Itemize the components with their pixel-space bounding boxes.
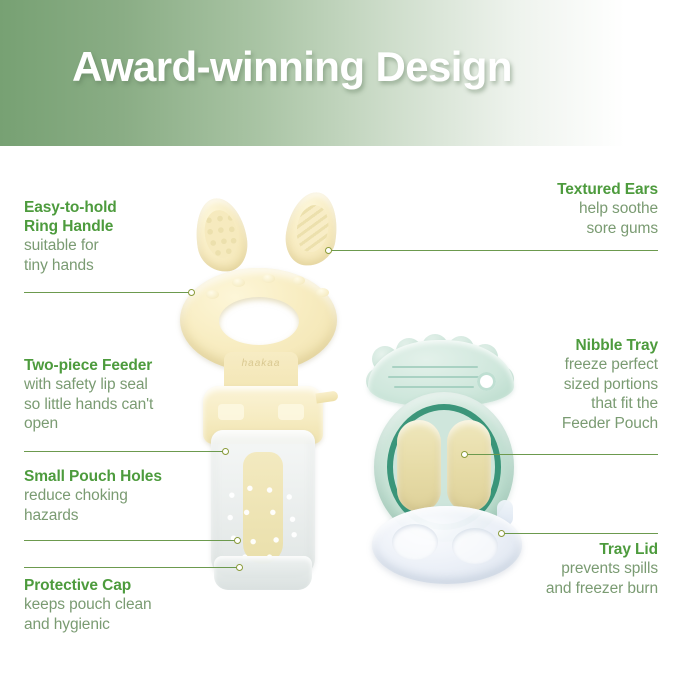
- callout-body-two-piece-feeder-line3: open: [24, 414, 224, 434]
- protective-cap-part: [214, 556, 312, 590]
- ring-bump: [262, 274, 275, 283]
- leader-dot-two-piece-feeder: [222, 448, 229, 455]
- callout-body-nibble-tray-line3: that fit the: [438, 394, 658, 414]
- callout-body-textured-ears-line2: sore gums: [438, 219, 658, 239]
- feeder-spout: [315, 391, 338, 404]
- leader-dot-tray-lid: [498, 530, 505, 537]
- callout-title-ring-handle-line1: Easy-to-hold: [24, 198, 214, 217]
- lid-dimple: [392, 524, 438, 560]
- callout-body-two-piece-feeder-line1: with safety lip seal: [24, 375, 224, 395]
- bunny-ear-right-zigzag: [282, 189, 343, 270]
- tray-food-portion-left: [397, 420, 441, 512]
- leader-line-tray-lid: [504, 533, 658, 534]
- ring-bump: [232, 278, 245, 287]
- ring-bump: [316, 288, 329, 297]
- callout-body-ring-handle-line2: tiny hands: [24, 256, 214, 276]
- ring-handle-opening: [219, 297, 299, 345]
- callout-body-two-piece-feeder-line2: so little hands can't: [24, 395, 224, 415]
- callout-body-small-pouch-holes-line2: hazards: [24, 506, 224, 526]
- brand-logo-text: haakaa: [224, 358, 298, 369]
- callout-title-textured-ears: Textured Ears: [438, 180, 658, 199]
- leader-dot-small-pouch-holes: [234, 537, 241, 544]
- leader-line-two-piece-feeder: [24, 451, 226, 452]
- ring-bump: [206, 290, 219, 299]
- callout-small-pouch-holes: Small Pouch Holes reduce choking hazards: [24, 467, 224, 525]
- callout-title-nibble-tray: Nibble Tray: [438, 336, 658, 355]
- callout-title-protective-cap: Protective Cap: [24, 576, 224, 595]
- leader-line-small-pouch-holes: [24, 540, 238, 541]
- callout-title-small-pouch-holes: Small Pouch Holes: [24, 467, 224, 486]
- callout-protective-cap: Protective Cap keeps pouch clean and hyg…: [24, 576, 224, 634]
- leader-dot-ring-handle: [188, 289, 195, 296]
- callout-textured-ears: Textured Ears help soothe sore gums: [438, 180, 658, 238]
- callout-title-two-piece-feeder: Two-piece Feeder: [24, 356, 224, 375]
- callout-title-ring-handle-line2: Ring Handle: [24, 217, 214, 236]
- callout-body-nibble-tray-line1: freeze perfect: [438, 355, 658, 375]
- callout-two-piece-feeder: Two-piece Feeder with safety lip seal so…: [24, 356, 224, 434]
- callout-nibble-tray: Nibble Tray freeze perfect sized portion…: [438, 336, 658, 433]
- feeder-safety-clip: [278, 404, 304, 420]
- callout-title-tray-lid: Tray Lid: [438, 540, 658, 559]
- callout-body-ring-handle-line1: suitable for: [24, 236, 214, 256]
- tray-food-portion-right: [447, 420, 491, 512]
- infographic-canvas: Award-winning Design haakaa: [0, 0, 679, 679]
- leader-dot-textured-ears: [325, 247, 332, 254]
- callout-body-small-pouch-holes-line1: reduce choking: [24, 486, 224, 506]
- ring-bump: [292, 276, 305, 285]
- leader-dot-nibble-tray: [461, 451, 468, 458]
- callout-ring-handle: Easy-to-hold Ring Handle suitable for ti…: [24, 198, 214, 275]
- callout-body-nibble-tray-line2: sized portions: [438, 375, 658, 395]
- callout-body-tray-lid-line1: prevents spills: [438, 559, 658, 579]
- page-title: Award-winning Design: [72, 43, 512, 91]
- callout-body-protective-cap-line1: keeps pouch clean: [24, 595, 224, 615]
- leader-line-protective-cap: [24, 567, 240, 568]
- pouch-small-holes: [222, 478, 304, 564]
- leader-line-textured-ears: [330, 250, 658, 251]
- callout-body-protective-cap-line2: and hygienic: [24, 615, 224, 635]
- header-banner: Award-winning Design: [0, 0, 679, 146]
- leader-dot-protective-cap: [236, 564, 243, 571]
- callout-body-nibble-tray-line4: Feeder Pouch: [438, 414, 658, 434]
- callout-body-textured-ears-line1: help soothe: [438, 199, 658, 219]
- callout-body-tray-lid-line2: and freezer burn: [438, 579, 658, 599]
- leader-line-nibble-tray: [468, 454, 658, 455]
- callout-tray-lid: Tray Lid prevents spills and freezer bur…: [438, 540, 658, 598]
- leader-line-ring-handle: [24, 292, 192, 293]
